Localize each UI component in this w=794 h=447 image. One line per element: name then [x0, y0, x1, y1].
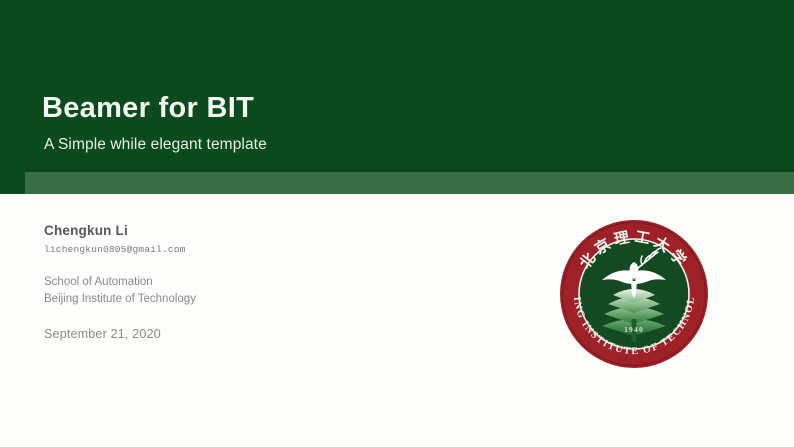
author-email: lichengkun0805@gmail.com	[44, 244, 464, 256]
bit-logo: BEIJING INSTITUTE OF TECHNOLOGY 北京理工大学	[558, 218, 710, 370]
slide-subtitle: A Simple while elegant template	[44, 136, 642, 154]
title-block: Beamer for BIT A Simple while elegant te…	[42, 92, 642, 154]
presentation-slide: Beamer for BIT A Simple while elegant te…	[0, 0, 794, 447]
institute-line-department: School of Automation	[44, 274, 464, 291]
institute-line-university: Beijing Institute of Technology	[44, 291, 464, 308]
author-block: Chengkun Li lichengkun0805@gmail.com Sch…	[44, 222, 464, 341]
institute-block: School of Automation Beijing Institute o…	[44, 274, 464, 307]
slide-header-band: Beamer for BIT A Simple while elegant te…	[0, 0, 794, 194]
header-accent-bar	[25, 172, 794, 194]
bit-logo-icon: BEIJING INSTITUTE OF TECHNOLOGY 北京理工大学	[558, 218, 710, 370]
presentation-date: September 21, 2020	[44, 327, 464, 341]
logo-founded-year: 1940	[624, 325, 644, 334]
author-name: Chengkun Li	[44, 222, 464, 240]
slide-title: Beamer for BIT	[42, 92, 642, 125]
